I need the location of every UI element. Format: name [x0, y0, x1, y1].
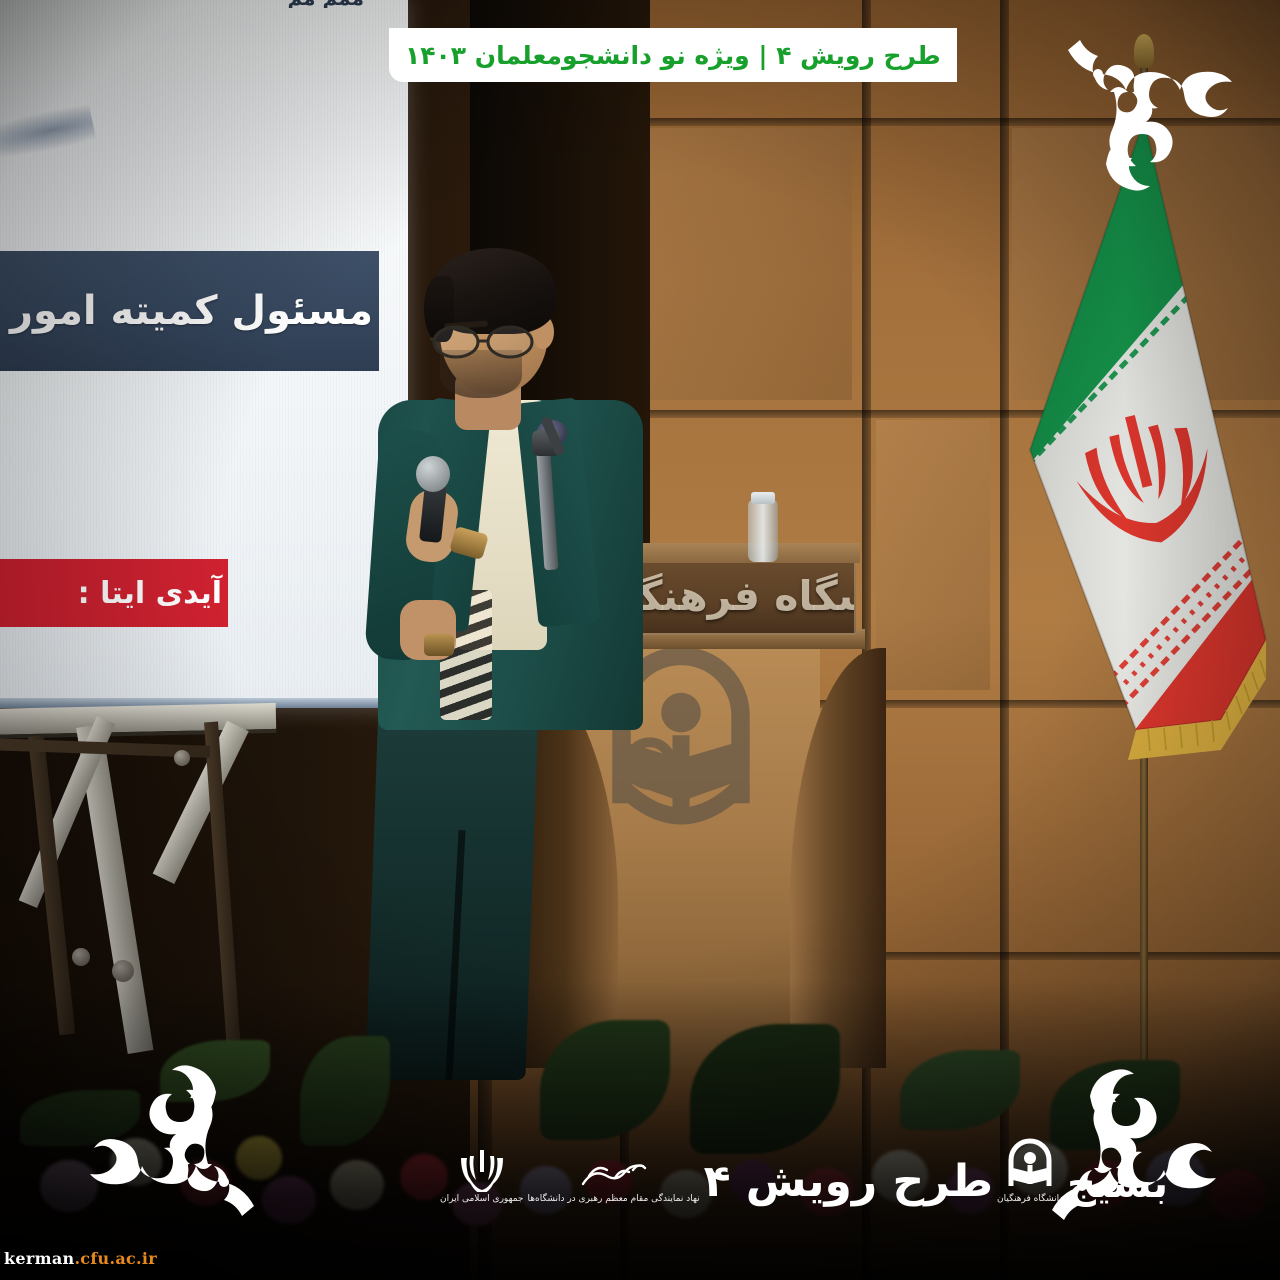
table-bolt — [72, 948, 90, 966]
iran-emblem-logo: جمهوری اسلامی ایران — [440, 1148, 524, 1204]
slide-top-fragment: ممم مم — [114, 0, 364, 8]
slide-contact-text: آیدی ایتا : — [78, 576, 222, 611]
speaker-wristwatch-lower — [424, 634, 454, 656]
table-bolt — [174, 750, 190, 766]
basij-daneshjoui-calligraphy-logo: بسیج — [1067, 1164, 1168, 1204]
slide-contact-fragment-text: bra — [0, 574, 1, 605]
eyeglasses-icon — [430, 322, 540, 362]
event-title-text: طرح رویش ۴ | ویژه نو دانشجومعلمان ۱۴۰۳ — [405, 41, 941, 70]
tarh-rouyesh-4-calligraphy-logo: طرح رویش ۴ — [704, 1160, 993, 1204]
table-bolt — [112, 960, 134, 982]
basij-calligraphy-text: بسیج — [1067, 1164, 1168, 1204]
event-photo-stage: ممم مم مسئول کمیته امور آیدی ایتا : bra — [0, 0, 1280, 1280]
slide-headline-bar: مسئول کمیته امور — [0, 251, 379, 371]
microphone-head — [416, 456, 450, 492]
farhangian-caption: دانشگاه فرهنگیان — [997, 1194, 1063, 1204]
site-watermark: kerman.cfu.ac.ir — [4, 1249, 157, 1268]
floral-corner-ornament-icon — [1054, 34, 1264, 219]
slide-headline-text: مسئول کمیته امور — [10, 288, 373, 334]
nahad-logo-icon — [579, 1148, 649, 1192]
iran-emblem-icon — [459, 1148, 505, 1192]
tarh-rouyesh-calligraphy-text: طرح رویش ۴ — [704, 1160, 993, 1204]
nahad-caption: نهاد نمایندگی مقام معظم رهبری در دانشگاه… — [528, 1194, 700, 1204]
supreme-leader-representative-logo: نهاد نمایندگی مقام معظم رهبری در دانشگاه… — [528, 1148, 700, 1204]
farhangian-logo-icon — [1003, 1134, 1057, 1192]
farhangian-university-logo: دانشگاه فرهنگیان — [997, 1134, 1063, 1204]
water-bottle — [748, 500, 778, 562]
floral-corner-ornament-icon — [58, 1037, 268, 1222]
wall-panel — [876, 420, 990, 690]
iran-flag — [1016, 120, 1266, 920]
watermark-suffix: .cfu.ac.ir — [74, 1249, 157, 1268]
slide-contact-bar: آیدی ایتا : — [0, 559, 228, 627]
projection-screen: ممم مم مسئول کمیته امور آیدی ایتا : bra — [0, 0, 408, 708]
wall-panel — [640, 128, 852, 400]
watermark-prefix: kerman — [4, 1249, 74, 1268]
sponsor-logo-row: جمهوری اسلامی ایران نهاد نمایندگی مقام م… — [440, 1092, 1000, 1204]
water-bottle-cap — [751, 492, 775, 504]
event-title-banner: طرح رویش ۴ | ویژه نو دانشجومعلمان ۱۴۰۳ — [389, 28, 957, 82]
iran-emblem-caption: جمهوری اسلامی ایران — [440, 1194, 524, 1204]
